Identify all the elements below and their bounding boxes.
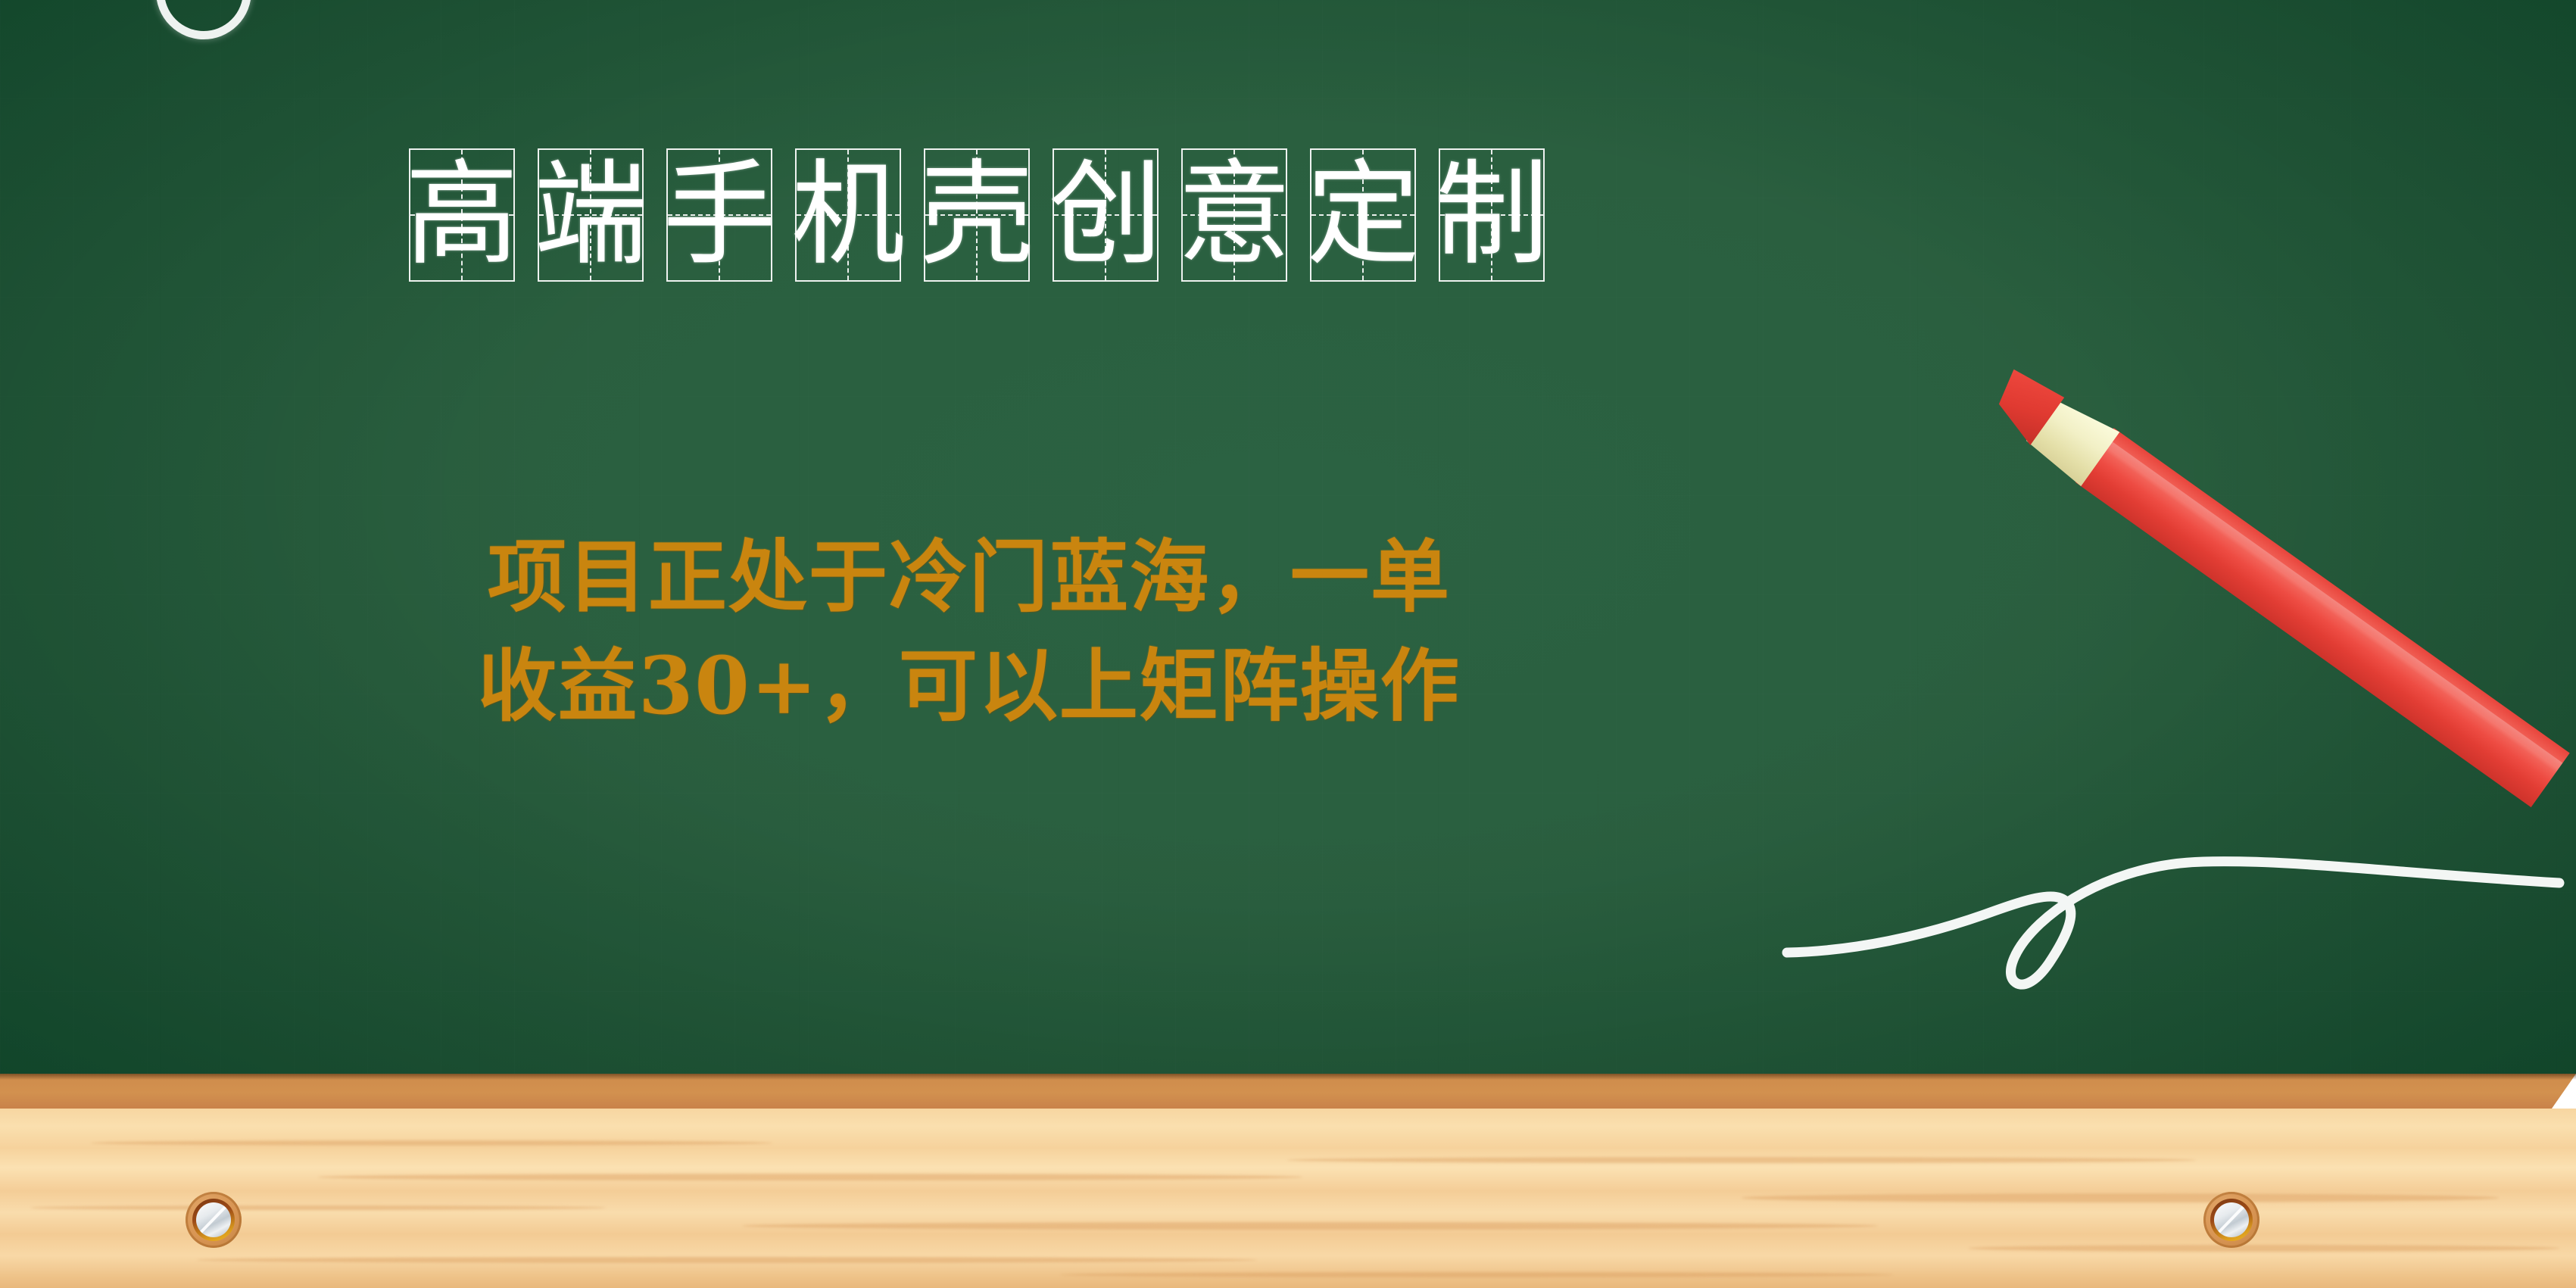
chalk-circle-icon	[156, 0, 251, 39]
title-char-glyph: 高	[410, 150, 513, 280]
chalk-tray-shadow	[0, 1074, 2576, 1080]
title-char-cell: 机	[795, 148, 901, 282]
body-line-2: 收益30+，可以上矩阵操作	[0, 632, 1938, 741]
pencil-highlight	[2100, 438, 2563, 773]
title-char-glyph: 意	[1183, 150, 1286, 280]
pencil-barrel	[2075, 428, 2570, 807]
screw-slot	[196, 1202, 231, 1237]
screw-slot	[2214, 1202, 2249, 1237]
title-char-glyph: 手	[668, 150, 771, 280]
right-screw	[2203, 1192, 2259, 1248]
chalkboard-poster: 高 端 手 机 壳 创 意 定 制	[0, 0, 2576, 1288]
title-char-cell: 定	[1310, 148, 1416, 282]
title-char-cell: 端	[538, 148, 644, 282]
body-copy: 项目正处于冷门蓝海，一单 收益30+，可以上矩阵操作	[0, 522, 1938, 740]
title-char-glyph: 定	[1311, 150, 1414, 280]
page-title: 高 端 手 机 壳 创 意 定 制	[409, 148, 1545, 282]
chalk-tray	[0, 1074, 2576, 1288]
title-char-glyph: 机	[797, 150, 900, 280]
title-char-cell: 创	[1053, 148, 1159, 282]
title-char-glyph: 制	[1440, 150, 1543, 280]
title-char-cell: 壳	[924, 148, 1030, 282]
left-screw	[186, 1192, 242, 1248]
title-char-glyph: 创	[1054, 150, 1157, 280]
title-char-cell: 手	[666, 148, 772, 282]
title-char-cell: 意	[1181, 148, 1287, 282]
body-line-1: 项目正处于冷门蓝海，一单	[0, 522, 1938, 632]
title-char-cell: 高	[409, 148, 515, 282]
chalkboard-surface: 高 端 手 机 壳 创 意 定 制	[0, 0, 2576, 1074]
title-char-cell: 制	[1439, 148, 1545, 282]
chalk-tray-face	[0, 1109, 2576, 1288]
title-char-glyph: 壳	[925, 150, 1028, 280]
red-pencil-icon	[1958, 332, 2576, 833]
chalk-swoosh-icon	[1764, 787, 2576, 1000]
title-char-glyph: 端	[539, 150, 642, 280]
